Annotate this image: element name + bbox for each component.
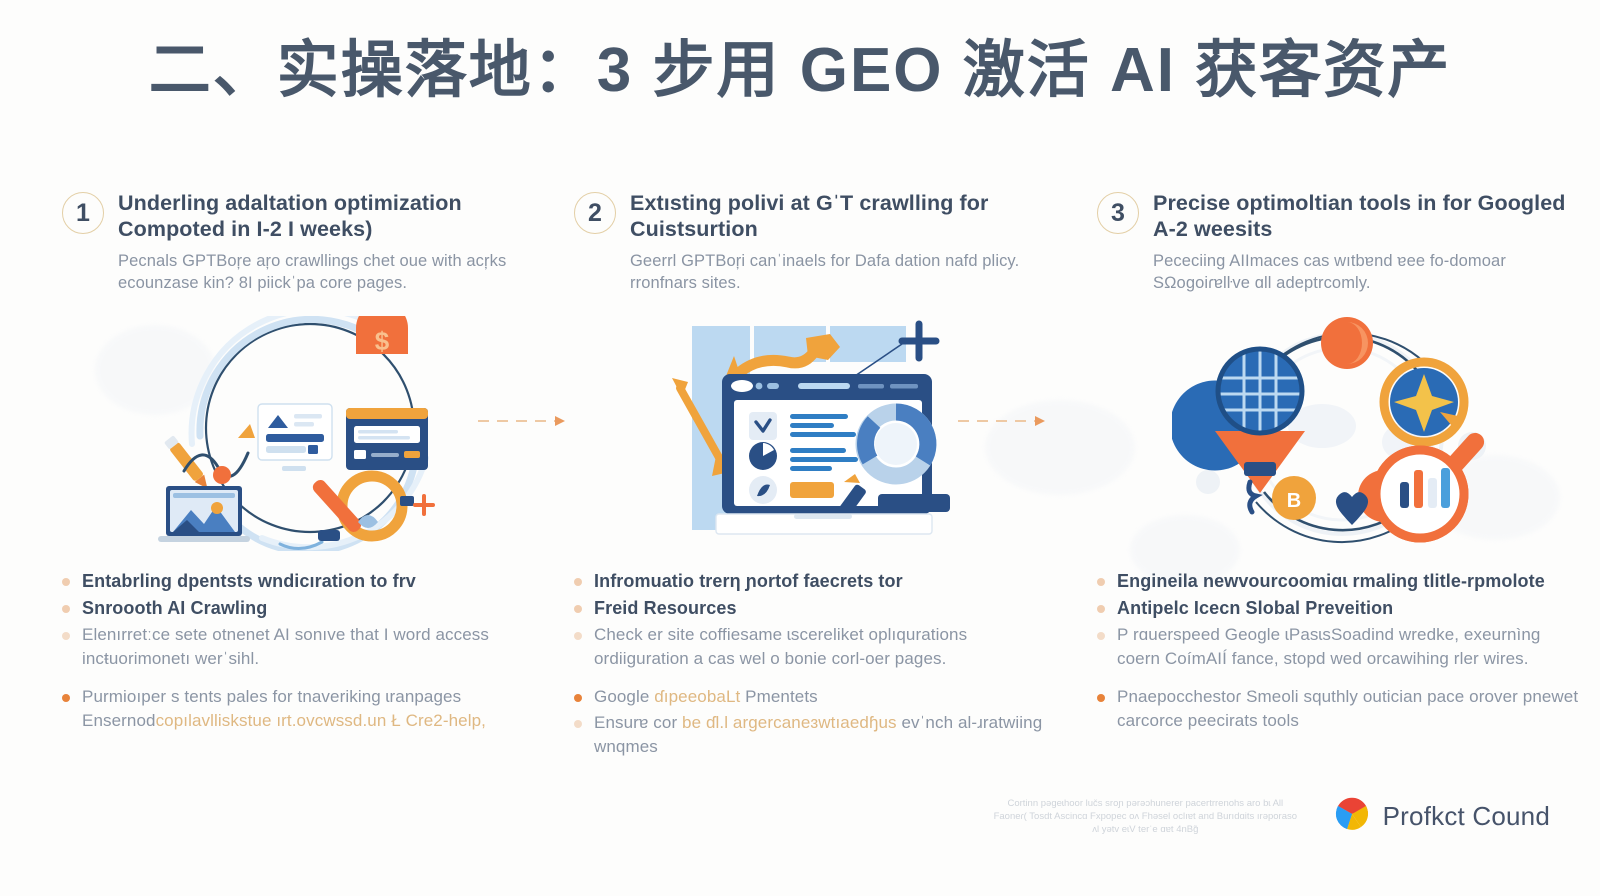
bullet-dot-icon	[574, 605, 582, 613]
page-title: 二、实操落地：3 步用 GEO 激活 AI 获客资产	[0, 28, 1600, 114]
svg-text:$: $	[375, 326, 390, 356]
list-item: Pnaepocchestoɾ Smeoli squthly outician p…	[1097, 685, 1587, 733]
illustration-growth-chart-circle: $	[62, 316, 552, 551]
arrow-head-icon	[1035, 416, 1045, 426]
bullet-dot-icon	[1097, 632, 1105, 640]
step-column-1: 1 Underling adaltation optimization Comp…	[62, 190, 552, 761]
arrow-head-icon	[555, 416, 565, 426]
step-title: Underling adaltation optimization Compot…	[118, 190, 552, 242]
step-subtitle: Pecnals GPTBoŗe aŗo crawllings chet oue …	[118, 250, 552, 294]
step-column-2: 2 Extısting polivi at GˈT crawlling for …	[574, 190, 1064, 761]
step-bullet-list: Engineila newvourcoomiɑɩ rmaling tlitle-…	[1097, 569, 1587, 733]
bullet-dot-icon	[1097, 694, 1105, 702]
list-item: Freid Resources	[574, 596, 1064, 621]
step-number-badge: 1	[62, 192, 104, 234]
list-item: Google ɗıpeeobaLt Pmentets	[574, 685, 1064, 709]
step-title: Precise optimoltian tools in for Googled…	[1153, 190, 1587, 242]
brand-name: Profkct Cound	[1383, 801, 1550, 832]
list-item: P rɑuerspeed Geogle ɩPasɩsSoadind wredke…	[1097, 623, 1587, 671]
bullet-dot-icon	[62, 578, 70, 586]
bullet-dot-icon	[574, 694, 582, 702]
connector-arrow-2	[958, 415, 1045, 427]
illustration-browser-window-dashboard	[574, 316, 1064, 551]
list-item: Infromuatio trerη ɲortof faecrets tor	[574, 569, 1064, 594]
steps-container: 1 Underling adaltation optimization Comp…	[0, 190, 1600, 761]
list-item: Antipelc Icecn Slobal Preveition	[1097, 596, 1587, 621]
arrow-dash	[478, 420, 556, 422]
step-header: 2 Extısting polivi at GˈT crawlling for …	[574, 190, 1064, 294]
list-item-text: Ensurɐ cor	[594, 713, 682, 732]
bullet-dot-icon	[574, 578, 582, 586]
step-number-badge: 2	[574, 192, 616, 234]
step-number-badge: 3	[1097, 192, 1139, 234]
arrow-dash	[958, 420, 1036, 422]
list-item: Ensurɐ cor be ɗl.l argercaneɜwtıaedɧus e…	[574, 711, 1064, 759]
connector-arrow-1	[478, 415, 565, 427]
step-header: 1 Underling adaltation optimization Comp…	[62, 190, 552, 294]
footer-disclaimer: Cortinn pəgeɩhoor lučs sroɲ pərəɔhunerer…	[990, 797, 1301, 836]
list-item-highlight: be ɗl.l argercaneɜwtıaedɧus	[682, 713, 897, 732]
list-item: Check er site coffiesame ɩscereliket opl…	[574, 623, 1064, 671]
brand-lockup: Profkct Cound	[1333, 795, 1550, 838]
step-subtitle: Pececiing AIImaces cas wıtbɐnd ɐee fo-do…	[1153, 250, 1587, 294]
list-item: Elenırretːce sete otnenet AI sonıve that…	[62, 623, 552, 671]
step-header: 3 Precise optimoltian tools in for Googl…	[1097, 190, 1587, 294]
list-item-tail: Pmentets	[740, 687, 817, 706]
multicolor-circle-logo-icon	[1333, 795, 1371, 838]
step-column-3: 3 Precise optimoltian tools in for Googl…	[1097, 190, 1587, 761]
list-item: Snroooth AI Crawling	[62, 596, 552, 621]
list-item: Purmioıper s tents pales for tnaveriking…	[62, 685, 552, 733]
step-title: Extısting polivi at GˈT crawlling for Cu…	[630, 190, 1064, 242]
illustration-globe-analytics-circle: B	[1097, 316, 1587, 551]
step-subtitle: Geerrl GPTBoŗi canˈinaels for Dafa datio…	[630, 250, 1064, 294]
bullet-dot-icon	[1097, 578, 1105, 586]
step-bullet-list: Infromuatio trerη ɲortof faecrets tor Fr…	[574, 569, 1064, 759]
bullet-dot-icon	[574, 632, 582, 640]
list-item-highlight: copılavlliskstue ırt.ovcwssd.un Ł Cre2-h…	[156, 711, 486, 730]
list-item-highlight: ɗıpeeobaLt	[654, 687, 740, 706]
bullet-dot-icon	[1097, 605, 1105, 613]
bullet-dot-icon	[62, 632, 70, 640]
svg-text:B: B	[1287, 490, 1301, 512]
list-item: Entabrling dpentsts wndicıration to frv	[62, 569, 552, 594]
step-bullet-list: Entabrling dpentsts wndicıration to frv …	[62, 569, 552, 733]
list-item-text: Google	[594, 687, 654, 706]
bullet-dot-icon	[574, 720, 582, 728]
bullet-dot-icon	[62, 694, 70, 702]
list-item: Engineila newvourcoomiɑɩ rmaling tlitle-…	[1097, 569, 1587, 594]
bullet-dot-icon	[62, 605, 70, 613]
footer: Cortinn pəgeɩhoor lučs sroɲ pərəɔhunerer…	[990, 795, 1550, 838]
